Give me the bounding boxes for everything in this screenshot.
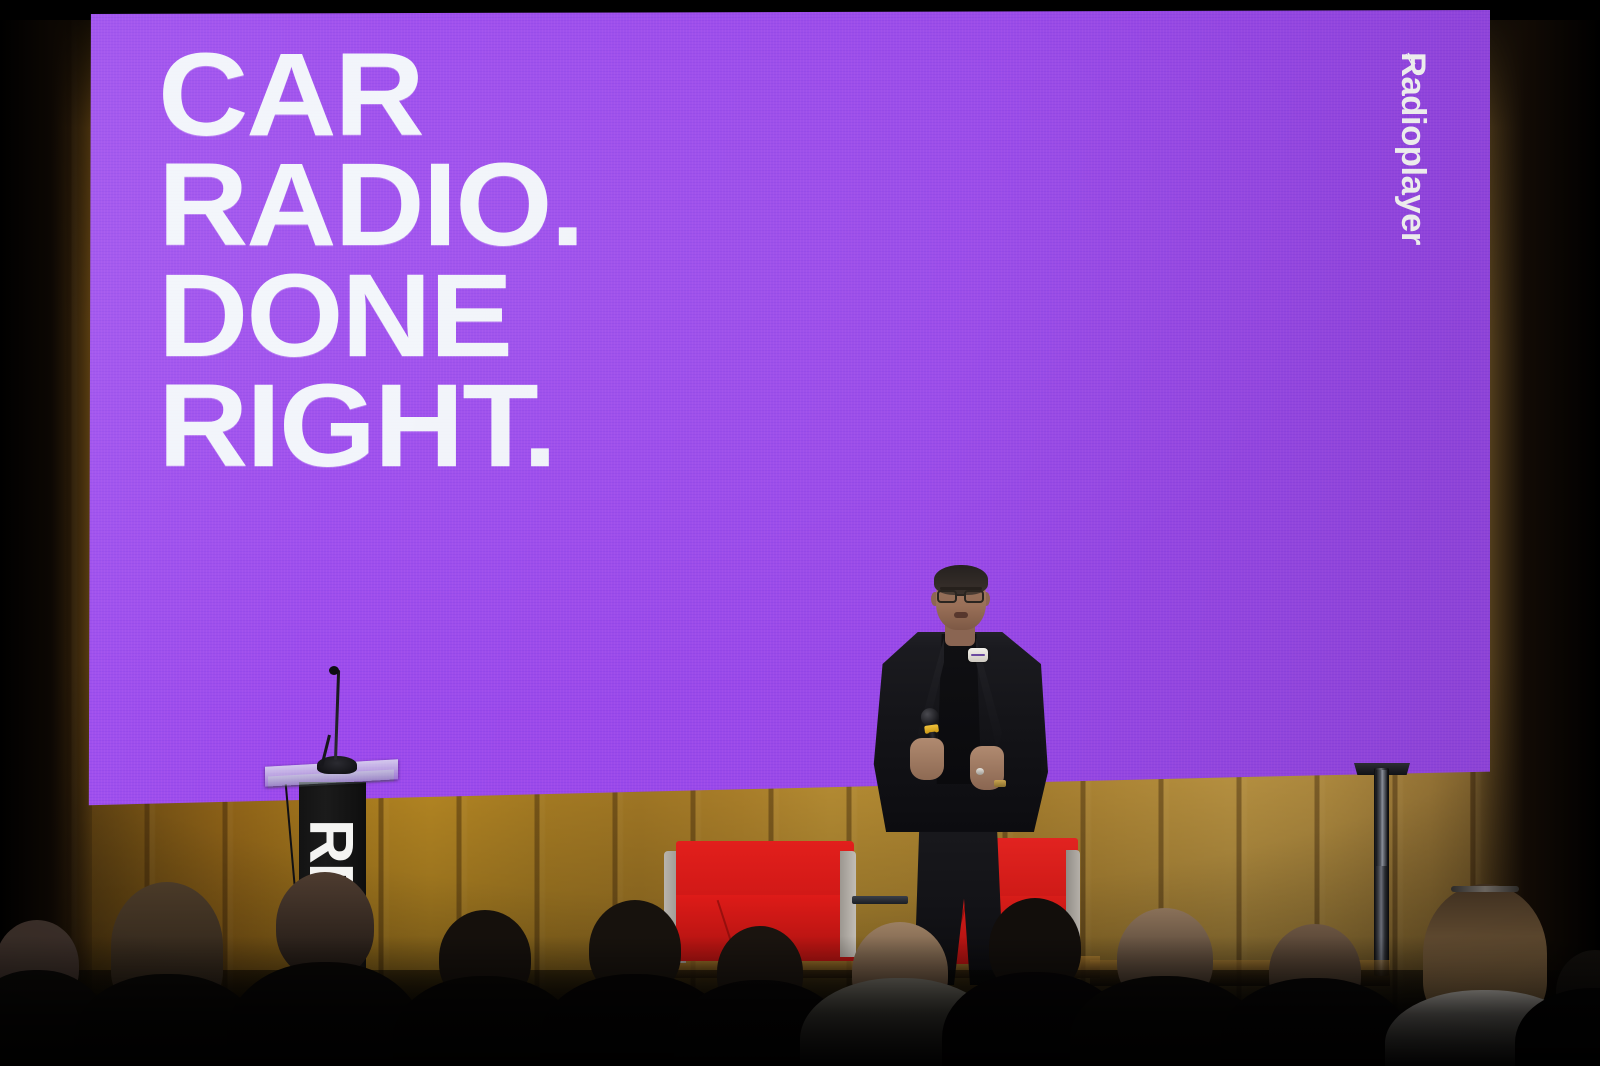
- screen-stand-upper: [1376, 770, 1387, 866]
- audience-person: [92, 866, 242, 1066]
- speaker-lapel-badge: [968, 648, 988, 662]
- audience-shoulders: [1221, 978, 1409, 1066]
- stage-scene: CAR RADIO. DONE RIGHT. Radioplayer: [0, 0, 1600, 1066]
- speaker-ring: [976, 768, 984, 775]
- audience-person: [250, 860, 400, 1066]
- gooseneck-mic-capsule: [329, 666, 339, 675]
- screen-shading: [86, 10, 1490, 810]
- glasses-lens-left: [937, 590, 957, 603]
- led-presentation-screen: CAR RADIO. DONE RIGHT. Radioplayer: [86, 10, 1490, 810]
- audience-person: [1090, 882, 1240, 1066]
- glasses-on-head-icon: [1451, 886, 1519, 892]
- audience-person: [1240, 890, 1390, 1066]
- glasses-lens-right: [964, 590, 984, 603]
- audience-person: [1530, 906, 1600, 1066]
- audience-person: [410, 882, 560, 1066]
- audience-foreground: [0, 860, 1600, 1066]
- speaker-glasses-icon: [936, 590, 986, 603]
- speaker-hand-left: [910, 738, 944, 780]
- speaker-mouth: [954, 612, 968, 618]
- speaker-watch: [994, 780, 1006, 787]
